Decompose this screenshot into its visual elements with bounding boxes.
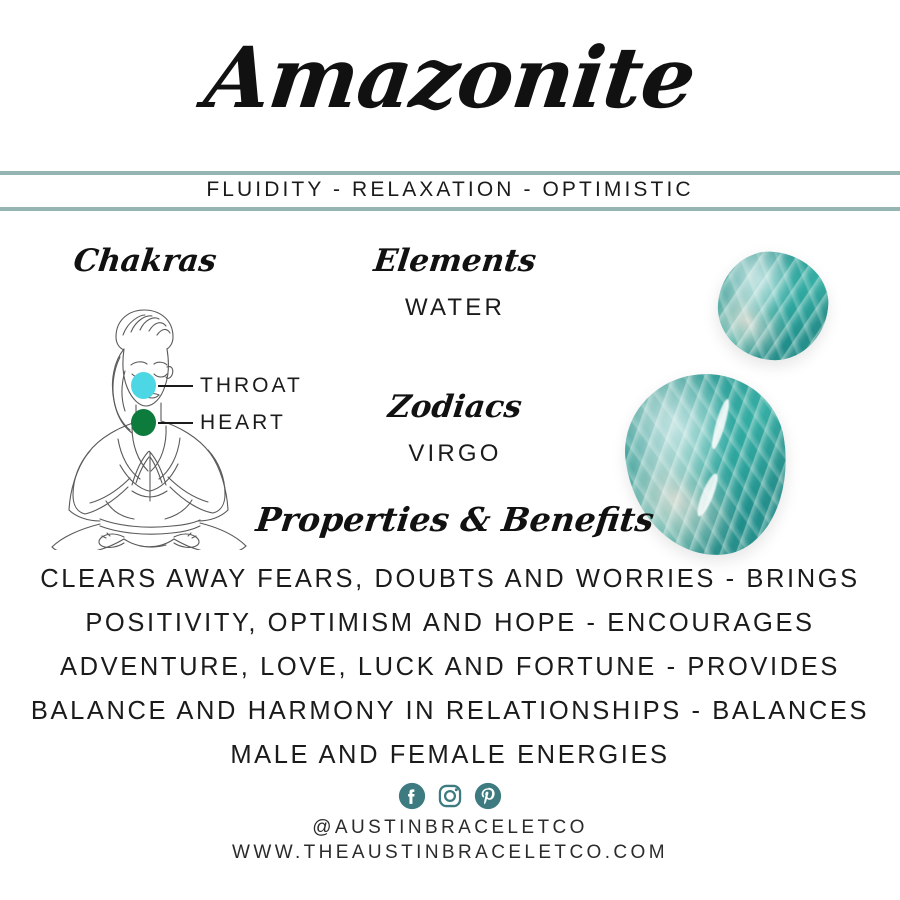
facebook-icon[interactable] xyxy=(398,782,426,810)
properties-heading: Properties & Benefits xyxy=(213,500,698,539)
properties-line: POSITIVITY, OPTIMISM AND HOPE - ENCOURAG… xyxy=(20,601,880,645)
amazonite-stone-small xyxy=(713,247,834,366)
properties-line: ADVENTURE, LOVE, LUCK AND FORTUNE - PROV… xyxy=(20,645,880,689)
keywords-tagline: FLUIDITY - RELAXATION - OPTIMISTIC xyxy=(0,177,900,203)
throat-leader-line xyxy=(158,385,193,387)
properties-body: CLEARS AWAY FEARS, DOUBTS AND WORRIES - … xyxy=(20,557,880,777)
throat-chakra-label: THROAT xyxy=(200,374,303,398)
website-url[interactable]: WWW.THEAUSTINBRACELETCO.COM xyxy=(0,840,900,865)
properties-line: MALE AND FEMALE ENERGIES xyxy=(20,733,880,777)
elements-heading: Elements xyxy=(308,243,602,279)
properties-line: CLEARS AWAY FEARS, DOUBTS AND WORRIES - … xyxy=(20,557,880,601)
pinterest-icon[interactable] xyxy=(474,782,502,810)
footer: @AUSTINBRACELETCO WWW.THEAUSTINBRACELETC… xyxy=(0,815,900,865)
heart-chakra-label: HEART xyxy=(200,411,286,435)
heart-chakra-dot xyxy=(131,409,156,436)
properties-line: BALANCE AND HARMONY IN RELATIONSHIPS - B… xyxy=(20,689,880,733)
zodiacs-value: VIRGO xyxy=(310,440,600,468)
elements-value: WATER xyxy=(310,294,600,322)
divider-top xyxy=(0,171,900,175)
zodiacs-heading: Zodiacs xyxy=(308,389,602,425)
throat-chakra-dot xyxy=(131,372,156,399)
instagram-icon[interactable] xyxy=(436,782,464,810)
chakras-heading: Chakras xyxy=(0,243,292,279)
instagram-handle[interactable]: @AUSTINBRACELETCO xyxy=(0,815,900,840)
page-title: Amazonite xyxy=(0,34,900,122)
heart-leader-line xyxy=(158,422,193,424)
divider-bottom xyxy=(0,207,900,211)
social-links xyxy=(0,782,900,810)
